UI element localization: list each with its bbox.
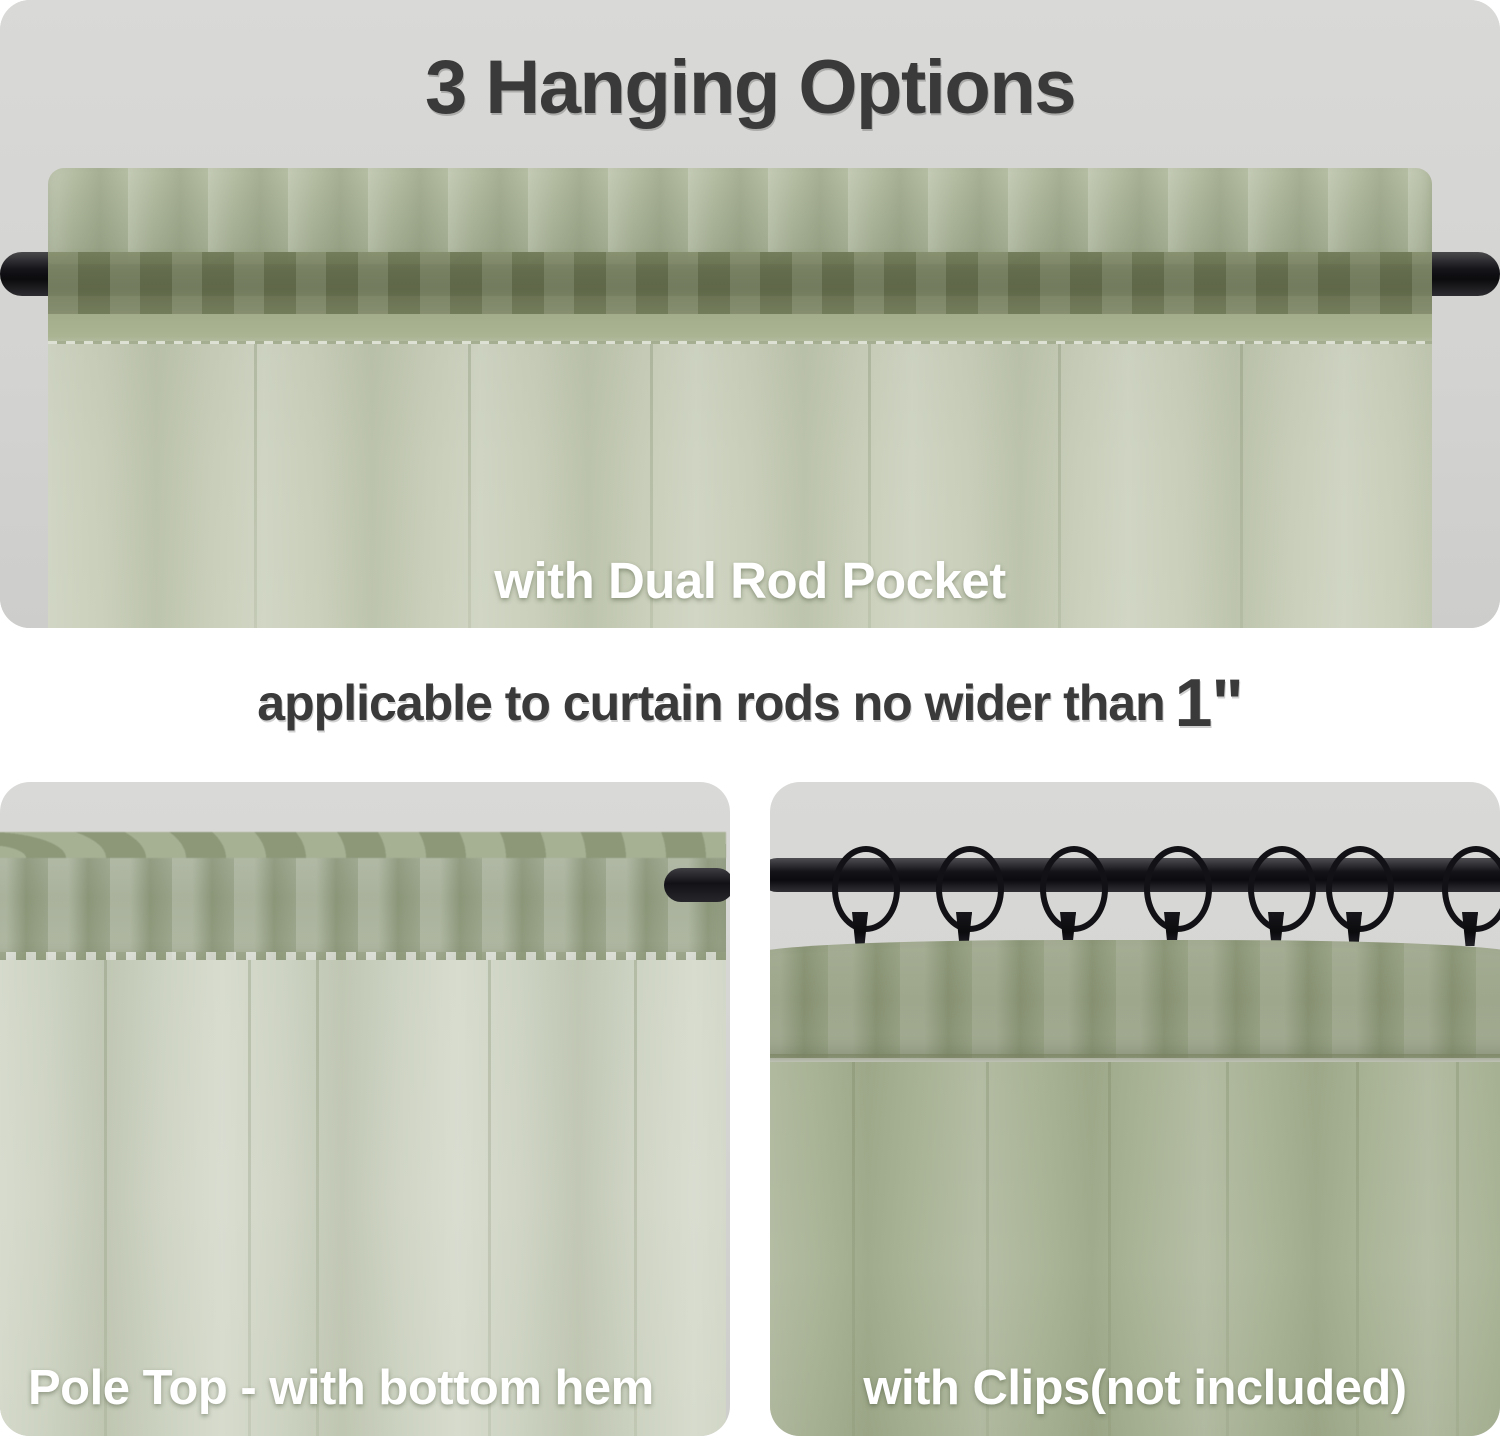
subtitle-text: applicable to curtain rods no wider than xyxy=(257,674,1164,732)
pleat-seam xyxy=(468,344,471,628)
pocket-stitch-line xyxy=(48,314,1432,346)
pleat-seam xyxy=(1058,344,1061,628)
panel-caption-pole-top: Pole Top - with bottom hem xyxy=(28,1360,654,1416)
pleat-seam xyxy=(254,344,257,628)
panel-with-clips: with Clips(not included) xyxy=(770,782,1500,1436)
subtitle-note: applicable to curtain rods no wider than… xyxy=(0,628,1500,778)
pleat-seam xyxy=(1240,344,1243,628)
panel-pole-top: Pole Top - with bottom hem xyxy=(0,782,730,1436)
subtitle-measurement: 1" xyxy=(1175,669,1243,737)
rod-pocket-ruffle xyxy=(48,168,1432,264)
clipped-curtain-header xyxy=(770,940,1500,1058)
panel-caption-dual-rod-pocket: with Dual Rod Pocket xyxy=(494,551,1005,610)
curtain-rod-tip-icon xyxy=(664,868,730,902)
pole-top-header xyxy=(0,844,726,962)
pleat-seam xyxy=(1456,1062,1459,1436)
panel-caption-with-clips: with Clips(not included) xyxy=(863,1360,1406,1416)
pleat-seam xyxy=(852,1062,855,1436)
rod-seen-through-sheer xyxy=(48,252,1432,314)
panel-dual-rod-pocket: with Dual Rod Pocket xyxy=(0,0,1500,628)
